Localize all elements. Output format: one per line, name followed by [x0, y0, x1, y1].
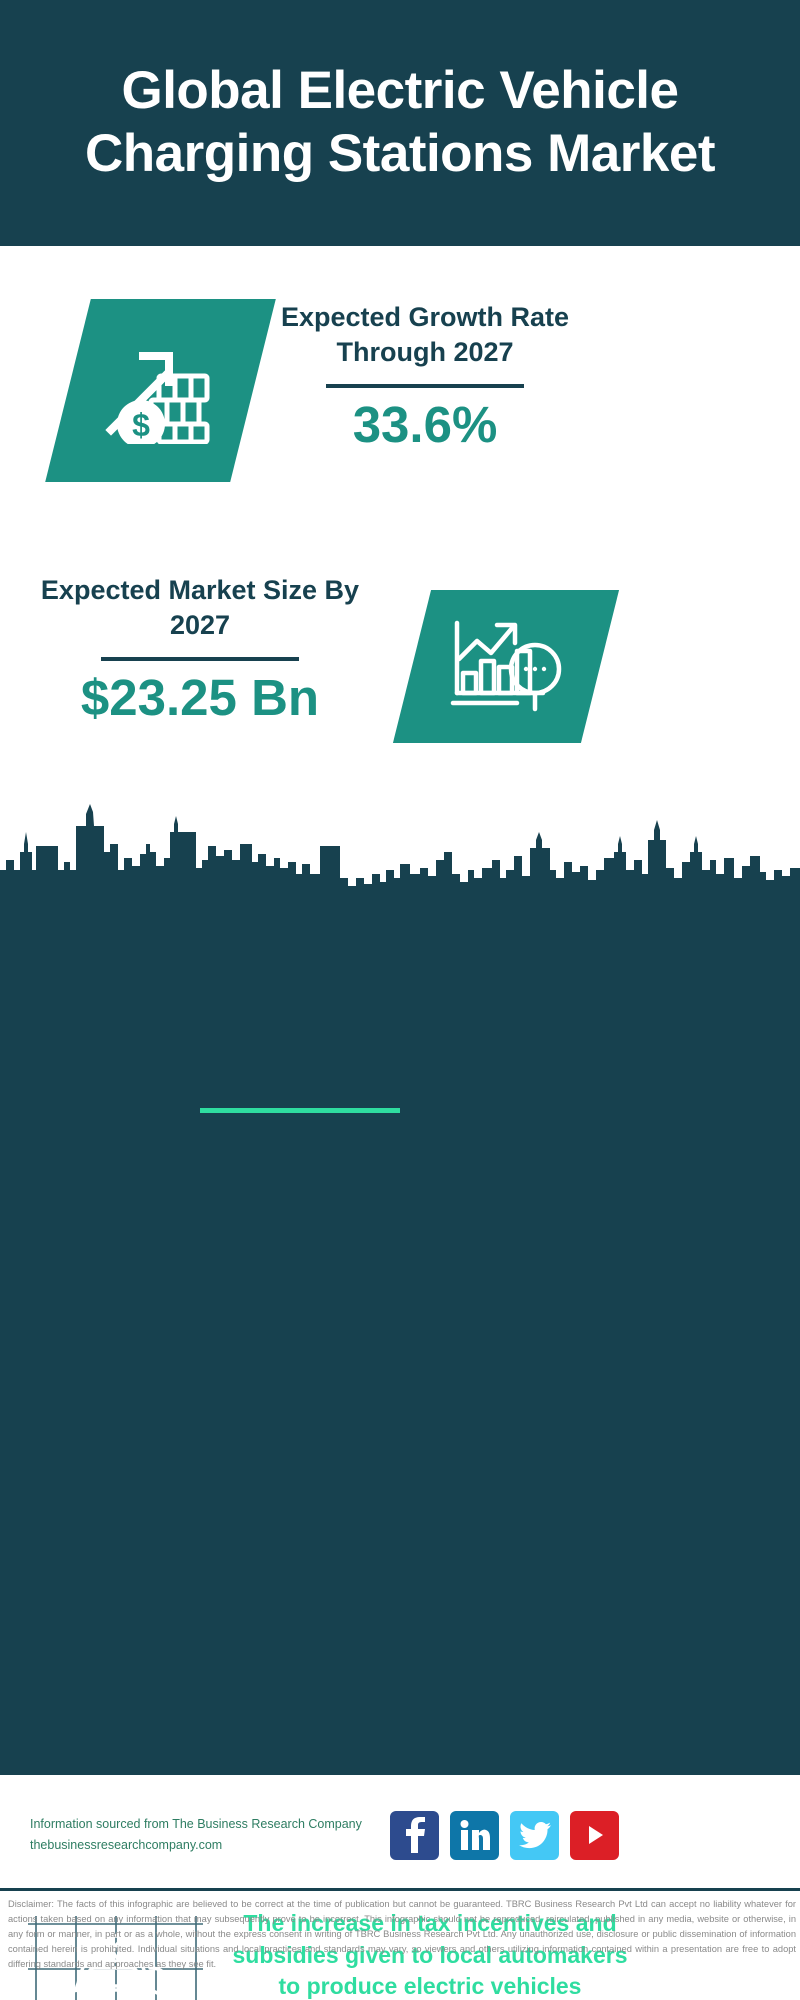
twitter-icon[interactable]	[510, 1811, 559, 1860]
market-size-value: $23.25 Bn	[40, 671, 360, 725]
header-banner: Global Electric Vehicle Charging Station…	[0, 0, 800, 246]
city-skyline-icon	[0, 782, 800, 907]
market-size-divider	[101, 657, 299, 661]
growth-rate-icon-badge: $	[45, 299, 276, 482]
growth-divider	[326, 384, 524, 388]
footer-website-link[interactable]: thebusinessresearchcompany.com	[30, 1835, 380, 1856]
svg-text:$: $	[132, 407, 150, 443]
footer-source-text: Information sourced from The Business Re…	[30, 1814, 380, 1835]
footer-source-block: Information sourced from The Business Re…	[30, 1814, 380, 1855]
youtube-icon[interactable]	[570, 1811, 619, 1860]
growth-arrow-money-icon: $	[101, 332, 221, 449]
section-divider	[200, 1108, 400, 1113]
footer-bar: Information sourced from The Business Re…	[0, 1780, 800, 1890]
market-size-label: Expected Market Size By 2027	[40, 573, 360, 642]
disclaimer-text: Disclaimer: The facts of this infographi…	[8, 1897, 796, 1972]
market-size-icon-badge	[393, 590, 619, 743]
market-size-block: Expected Market Size By 2027 $23.25 Bn	[40, 573, 360, 725]
growth-rate-block: Expected Growth Rate Through 2027 33.6%	[265, 300, 585, 452]
bar-chart-magnifier-icon	[447, 613, 565, 720]
growth-rate-label: Expected Growth Rate Through 2027	[265, 300, 585, 369]
infographic-page: Global Electric Vehicle Charging Station…	[0, 0, 800, 2000]
growth-rate-value: 33.6%	[265, 398, 585, 452]
insights-section: The increase in tax incentives and subsi…	[0, 900, 800, 1775]
facebook-icon[interactable]	[390, 1811, 439, 1860]
footer-divider	[0, 1888, 800, 1891]
social-links	[390, 1811, 619, 1860]
linkedin-icon[interactable]	[450, 1811, 499, 1860]
page-title: Global Electric Vehicle Charging Station…	[80, 60, 720, 185]
